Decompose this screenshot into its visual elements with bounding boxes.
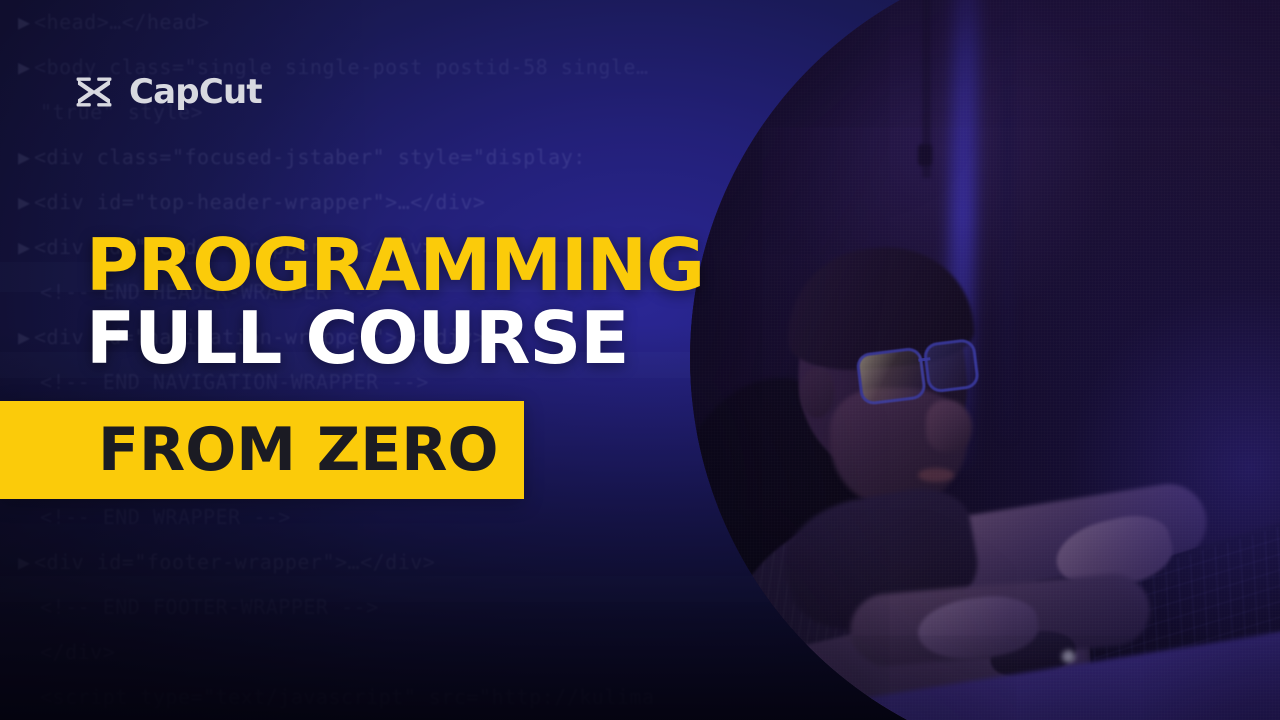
disclosure-triangle-icon: ▶	[18, 180, 34, 225]
headline-line-1: PROGRAMMING	[86, 232, 704, 299]
post-knob	[918, 144, 932, 166]
code-line-text: <script type="text/javascript" src="http…	[40, 685, 655, 709]
capcut-logo-text: CapCut	[129, 75, 262, 109]
subject-lips	[918, 468, 954, 482]
capcut-logo: CapCut	[72, 70, 262, 114]
disclosure-triangle-icon: ▶	[18, 45, 34, 90]
from-zero-banner: FROM ZERO	[0, 401, 524, 499]
headline-block: PROGRAMMING FULL COURSE	[86, 232, 704, 372]
code-line-text: <div id="top-header-wrapper">…</div>	[34, 190, 485, 214]
disclosure-triangle-icon: ▶	[18, 540, 34, 585]
disclosure-triangle-icon: ▶	[18, 0, 34, 45]
photo-content	[690, 0, 1280, 720]
headline-line-2: FULL COURSE	[86, 305, 704, 372]
banner-label: FROM ZERO	[98, 420, 499, 480]
code-line-text: <div class="focused-jstaber" style="disp…	[34, 145, 586, 169]
subject-ear	[800, 368, 834, 418]
code-line-text: <!-- END WRAPPER -->	[40, 505, 291, 529]
code-line-text: </div>	[40, 640, 115, 664]
code-line-text: <head>…</head>	[34, 10, 210, 34]
thumbnail-canvas: ▶<head>…</head>▶<body class="single sing…	[0, 0, 1280, 720]
code-line-text: <!-- END FOOTER-WRAPPER -->	[40, 595, 379, 619]
disclosure-triangle-icon: ▶	[18, 225, 34, 270]
dark-light-strip	[1002, 0, 1012, 438]
programmer-photo	[690, 0, 1280, 720]
code-line-text: <div id="footer-wrapper">…</div>	[34, 550, 435, 574]
right-lens	[922, 338, 980, 394]
capcut-logo-icon	[72, 70, 116, 114]
disclosure-triangle-icon: ▶	[18, 135, 34, 180]
subject-nose	[926, 400, 972, 452]
disclosure-triangle-icon: ▶	[18, 315, 34, 360]
mouse-led-glow	[1062, 650, 1075, 663]
left-lens	[855, 346, 927, 406]
